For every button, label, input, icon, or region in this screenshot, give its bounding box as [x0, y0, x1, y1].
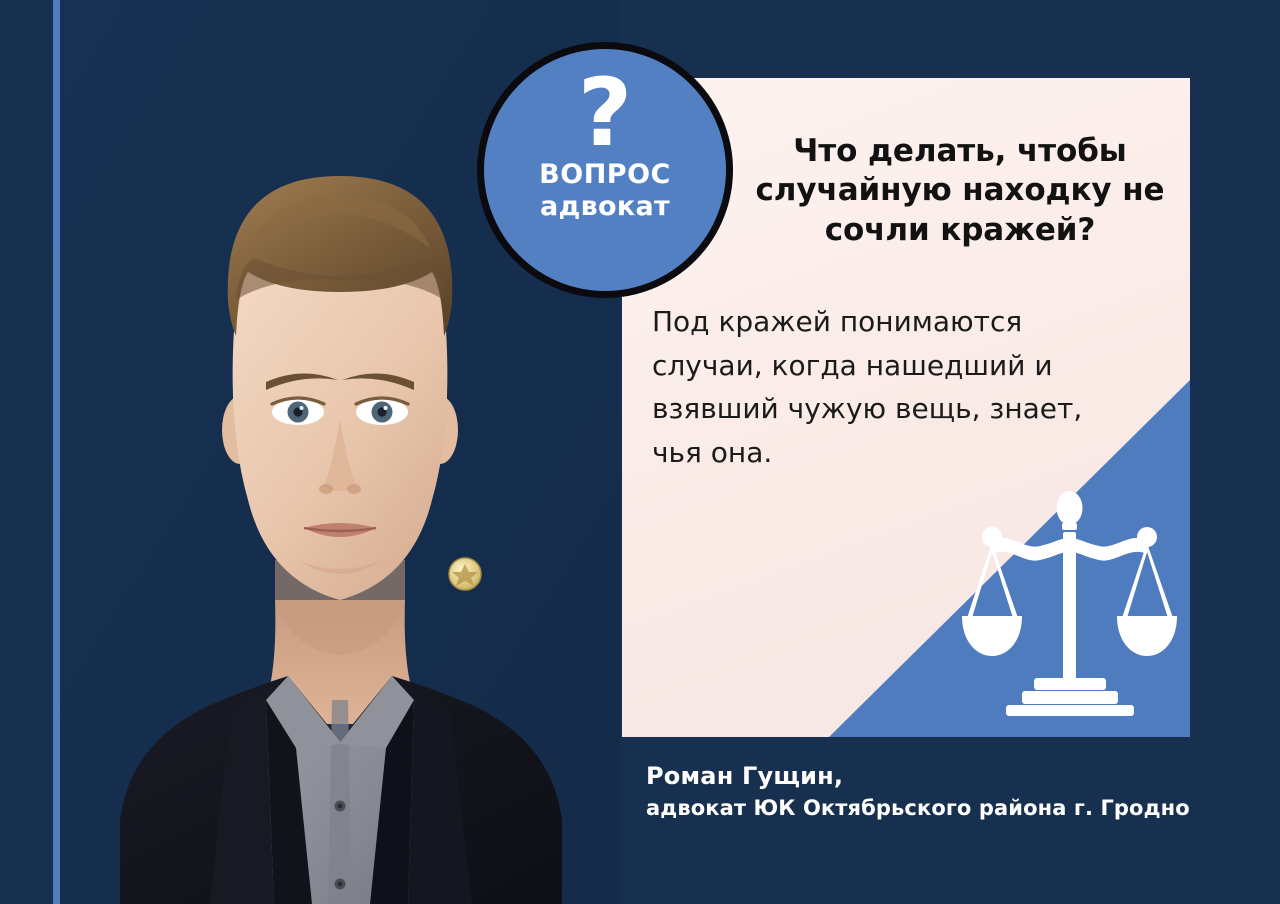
attribution-name: Роман Гущин, [646, 760, 1246, 792]
card-question-text: Что делать, чтобы случайную находку не с… [740, 132, 1180, 250]
attribution-block: Роман Гущин, адвокат ЮК Октябрьского рай… [646, 760, 1246, 823]
poster-canvas: Что делать, чтобы случайную находку не с… [0, 0, 1280, 904]
card-body-text: Под кражей понимаются случаи, когда наше… [652, 300, 1122, 475]
attribution-role: адвокат ЮК Октябрьского района г. Гродно [646, 794, 1246, 822]
badge-label-advokat: адвокат [540, 191, 670, 223]
question-badge: ? ВОПРОС адвокат [477, 42, 733, 298]
badge-label-vopros: ВОПРОС [539, 159, 671, 191]
scales-of-justice-icon [962, 488, 1177, 716]
question-mark-icon: ? [578, 71, 633, 157]
